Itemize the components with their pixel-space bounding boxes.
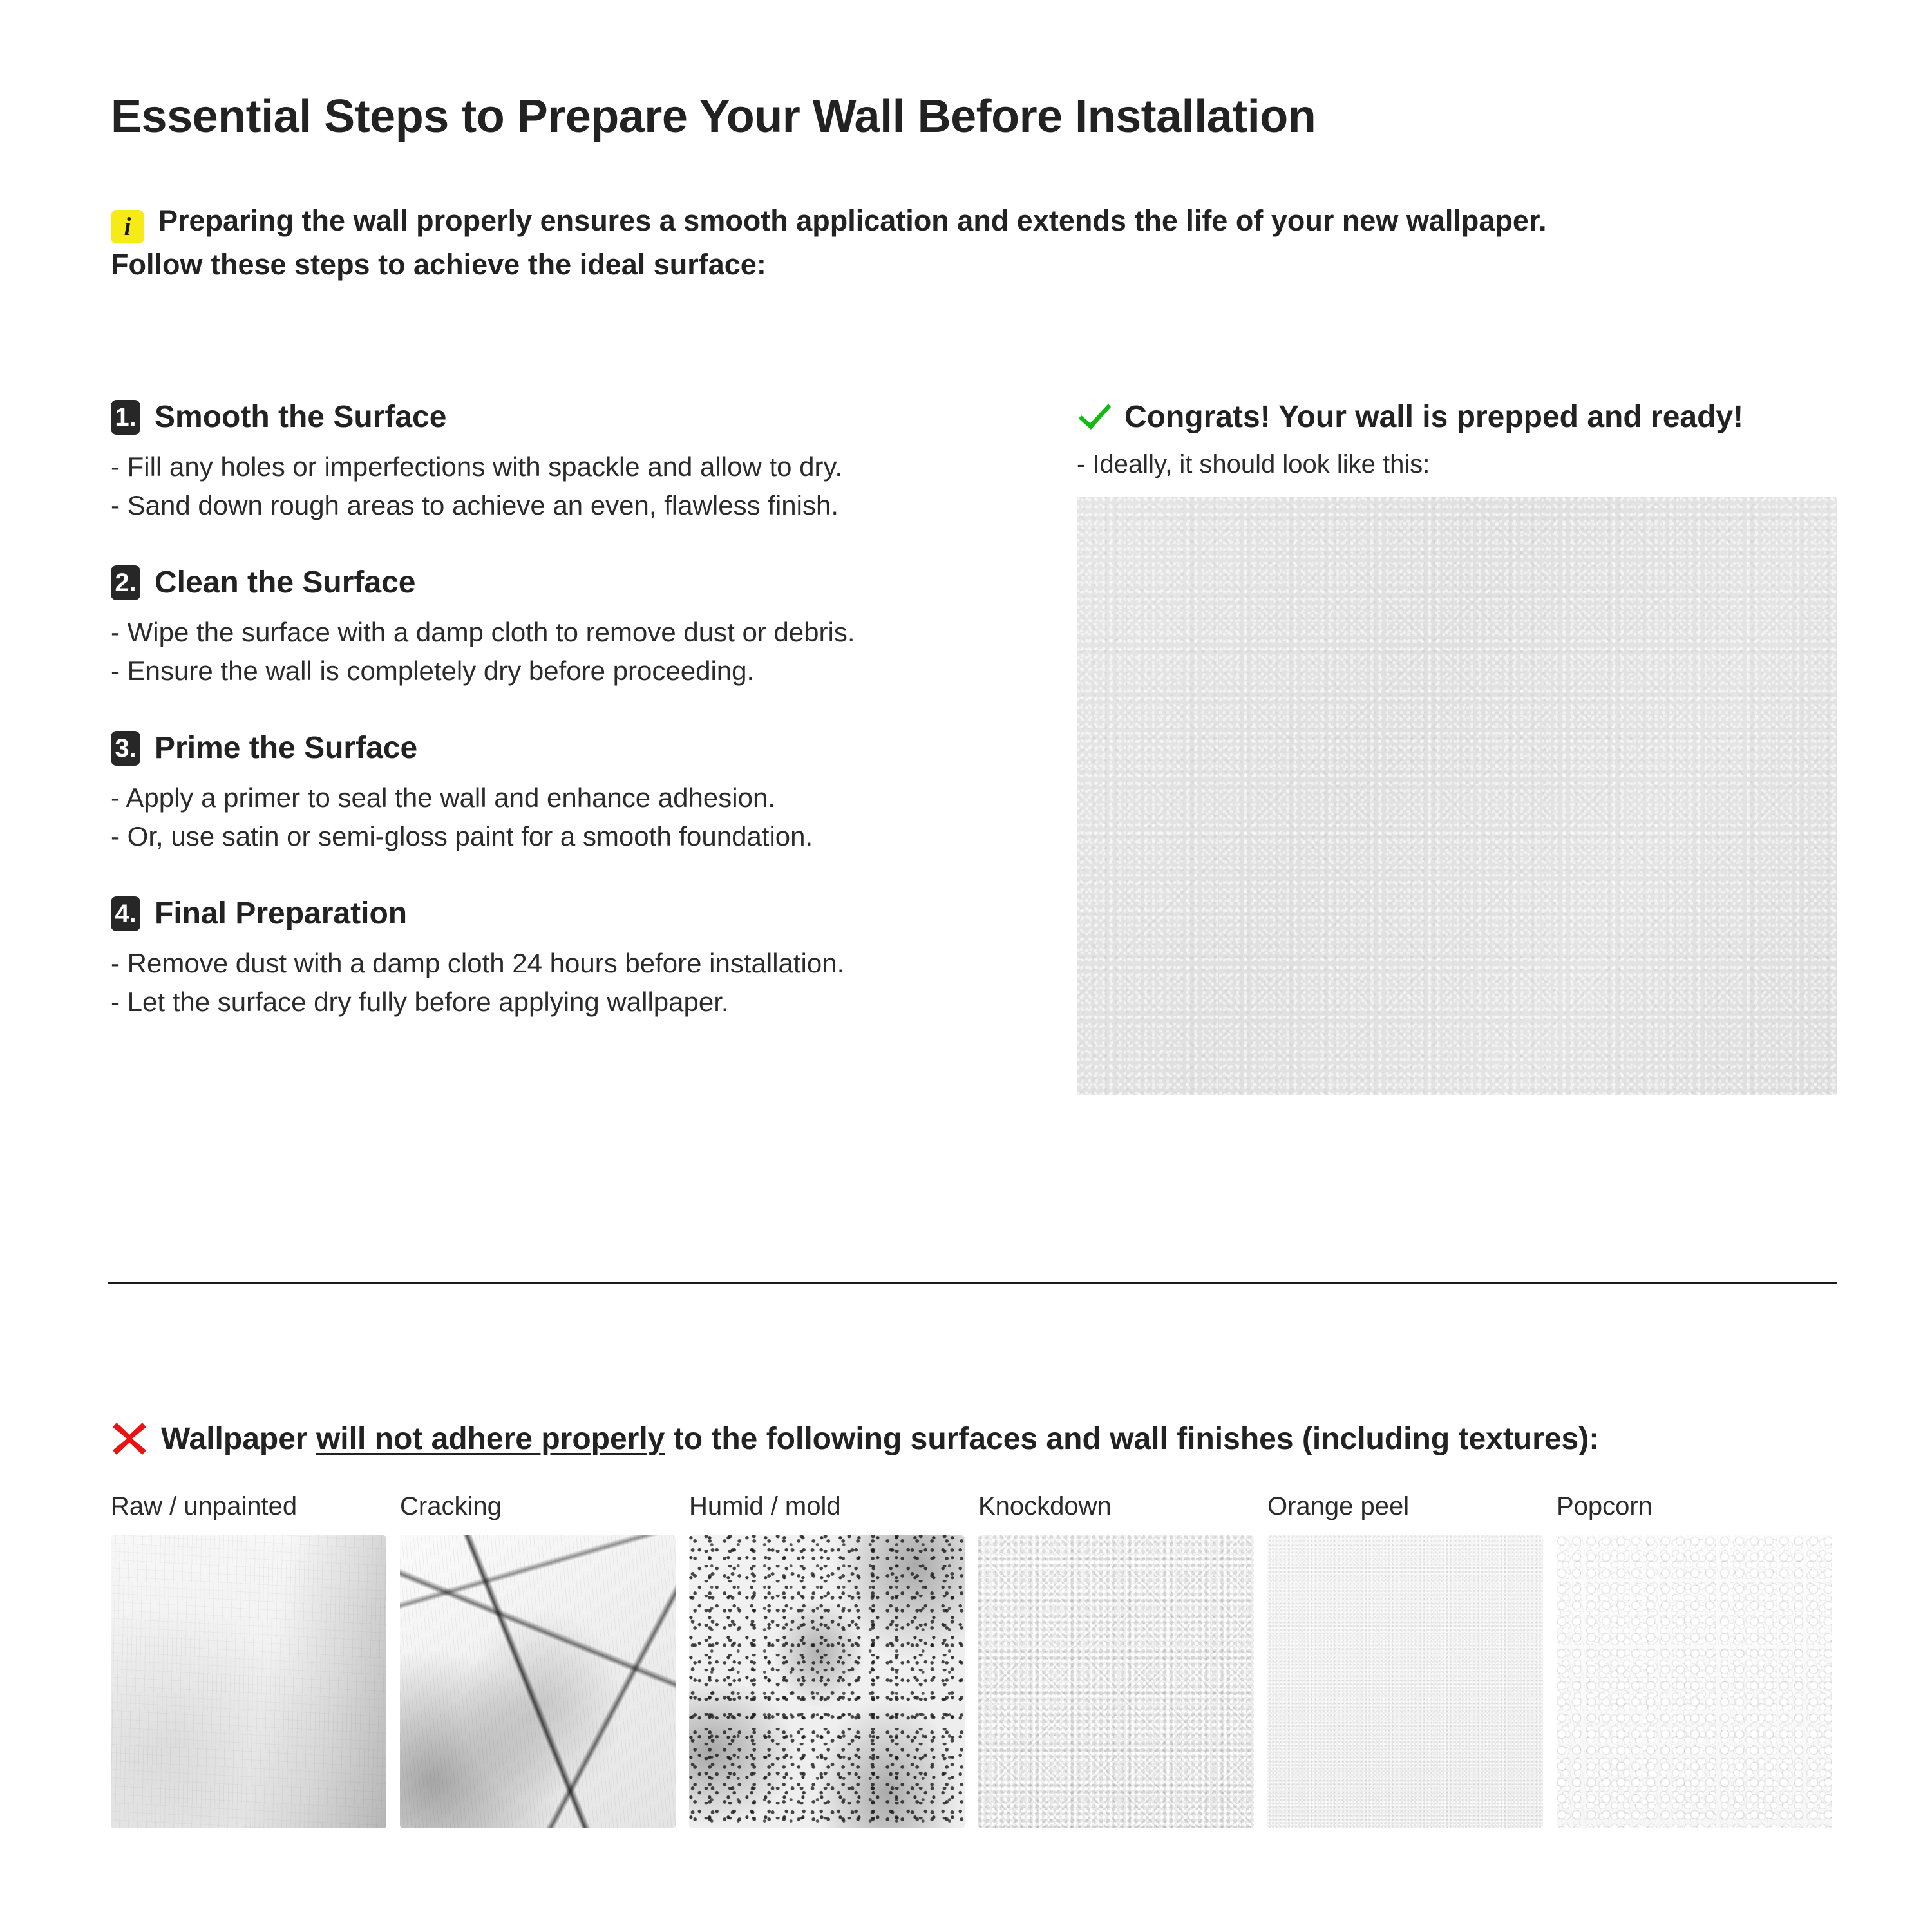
step-title: Smooth the Surface: [155, 399, 446, 435]
ideal-surface-panel: Congrats! Your wall is prepped and ready…: [1077, 399, 1837, 1095]
warning-header: Wallpaper will not adhere properly to th…: [111, 1420, 1843, 1457]
bad-surface-image-orange-peel: [1267, 1535, 1543, 1828]
bad-surface-cell: Popcorn: [1557, 1488, 1832, 1828]
step-title: Final Preparation: [155, 896, 407, 931]
bad-surface-label: Popcorn: [1557, 1488, 1832, 1525]
step-header: 4. Final Preparation: [111, 896, 1025, 931]
step-bullet: - Wipe the surface with a damp cloth to …: [111, 613, 1025, 652]
bad-surface-label: Orange peel: [1267, 1488, 1543, 1525]
bad-surface-image-knockdown: [978, 1535, 1254, 1828]
green-check-icon: [1077, 402, 1113, 433]
ideal-surface-swatch: [1077, 497, 1837, 1095]
step-bullet: - Ensure the wall is completely dry befo…: [111, 652, 1025, 690]
intro-line-2: Follow these steps to achieve the ideal …: [111, 243, 1837, 286]
step-number-badge: 3.: [111, 731, 140, 766]
step-number-badge: 1.: [111, 400, 140, 435]
step-header: 3. Prime the Surface: [111, 730, 1025, 766]
ideal-header: Congrats! Your wall is prepped and ready…: [1077, 399, 1837, 435]
step-title: Clean the Surface: [155, 565, 415, 600]
step-bullet: - Remove dust with a damp cloth 24 hours…: [111, 944, 1025, 983]
section-divider: [108, 1282, 1837, 1284]
info-icon: i: [111, 210, 144, 243]
bad-surface-image-cracking: [400, 1535, 676, 1828]
step-bullet: - Sand down rough areas to achieve an ev…: [111, 486, 1025, 525]
step-bullet: - Fill any holes or imperfections with s…: [111, 448, 1025, 486]
wall-prep-infographic: Essential Steps to Prepare Your Wall Bef…: [0, 0, 1932, 1932]
warning-text: Wallpaper will not adhere properly to th…: [161, 1421, 1599, 1457]
step-number-badge: 4.: [111, 896, 140, 931]
bad-surface-image-popcorn: [1557, 1535, 1832, 1828]
bad-surface-cell: Knockdown: [978, 1488, 1254, 1828]
bad-surface-label: Cracking: [400, 1488, 676, 1525]
step-bullet: - Or, use satin or semi-gloss paint for …: [111, 817, 1025, 856]
warning-text-before: Wallpaper: [161, 1422, 316, 1456]
intro-text-1: Preparing the wall properly ensures a sm…: [158, 204, 1547, 237]
bad-surface-cell: Humid / mold: [689, 1488, 965, 1828]
ideal-title: Congrats! Your wall is prepped and ready…: [1124, 399, 1743, 435]
page-title: Essential Steps to Prepare Your Wall Bef…: [111, 90, 1316, 143]
step-item: 4. Final Preparation - Remove dust with …: [111, 896, 1025, 1021]
bad-surface-cell: Orange peel: [1267, 1488, 1543, 1828]
bad-surface-cell: Cracking: [400, 1488, 676, 1828]
step-number-badge: 2.: [111, 565, 140, 600]
step-item: 2. Clean the Surface - Wipe the surface …: [111, 565, 1025, 690]
step-item: 1. Smooth the Surface - Fill any holes o…: [111, 399, 1025, 525]
bad-surface-image-humid-mold: [689, 1535, 965, 1828]
bad-surface-cell: Raw / unpainted: [111, 1488, 386, 1828]
bad-surface-label: Humid / mold: [689, 1488, 965, 1525]
warning-text-after: to the following surfaces and wall finis…: [665, 1422, 1599, 1456]
step-header: 2. Clean the Surface: [111, 565, 1025, 600]
step-title: Prime the Surface: [155, 730, 417, 766]
intro-block: iPreparing the wall properly ensures a s…: [111, 200, 1837, 286]
step-bullet: - Let the surface dry fully before apply…: [111, 983, 1025, 1021]
intro-line-1: iPreparing the wall properly ensures a s…: [111, 200, 1837, 243]
bad-surface-label: Knockdown: [978, 1488, 1254, 1525]
warning-text-underlined: will not adhere properly: [316, 1422, 665, 1456]
step-bullet: - Apply a primer to seal the wall and en…: [111, 779, 1025, 817]
steps-list: 1. Smooth the Surface - Fill any holes o…: [111, 399, 1025, 1061]
red-x-icon: [111, 1420, 148, 1457]
step-item: 3. Prime the Surface - Apply a primer to…: [111, 730, 1025, 856]
step-header: 1. Smooth the Surface: [111, 399, 1025, 435]
warning-block: Wallpaper will not adhere properly to th…: [111, 1420, 1843, 1457]
ideal-subtitle: - Ideally, it should look like this:: [1077, 446, 1837, 482]
bad-surface-image-raw-unpainted: [111, 1535, 386, 1828]
bad-surface-label: Raw / unpainted: [111, 1488, 386, 1525]
bad-surfaces-strip: Raw / unpainted Cracking Humid / mold Kn…: [111, 1488, 1843, 1828]
